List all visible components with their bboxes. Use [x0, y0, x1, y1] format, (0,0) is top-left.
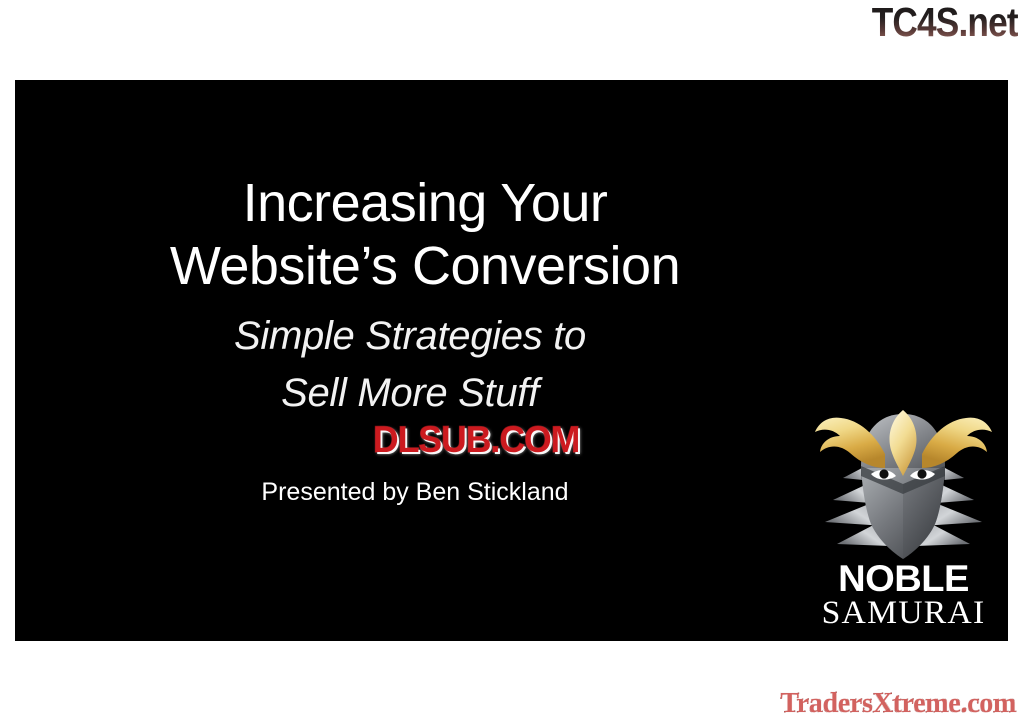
tc4s-site-watermark: TC4S.net [872, 2, 1018, 43]
dlsub-overlay-watermark: DLSUB.COM [373, 421, 579, 458]
samurai-left-horn [815, 418, 885, 468]
slide-title-line-2: Website’s Conversion [15, 235, 835, 298]
tradersxtreme-site-watermark: TradersXtreme.com [780, 690, 1016, 718]
slide-subtitle: Simple Strategies to Sell More Stuff [15, 308, 805, 422]
slide-title-line-1: Increasing Your [15, 172, 835, 235]
samurai-helmet-icon [811, 396, 996, 561]
logo-wordmark-samurai: SAMURAI [809, 597, 998, 631]
slide-subtitle-line-1: Simple Strategies to [15, 308, 805, 365]
slide-presenter-credit: Presented by Ben Stickland [15, 478, 815, 507]
slide-title: Increasing Your Website’s Conversion [15, 172, 835, 298]
noble-samurai-logo: NOBLE SAMURAI [811, 396, 996, 631]
logo-wordmark-noble: NOBLE [808, 561, 999, 597]
samurai-right-horn [922, 418, 992, 468]
slide-subtitle-line-2: Sell More Stuff [15, 365, 805, 422]
presentation-slide: Increasing Your Website’s Conversion Sim… [15, 80, 1008, 641]
